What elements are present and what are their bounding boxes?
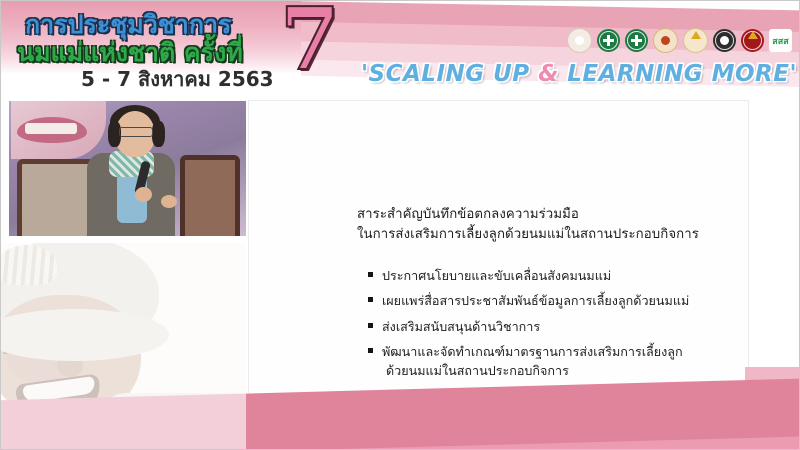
- list-item: เผยแพร่สื่อสารประชาสัมพันธ์ข้อมูลการเลี้…: [368, 292, 763, 311]
- heading-line-1: สาระสำคัญบันทึกข้อตกลงความร่วมมือ: [357, 205, 757, 225]
- department-health-green-logo: [625, 29, 648, 52]
- photo-fade-overlay: [1, 243, 246, 450]
- square-bullet-icon: [368, 297, 373, 302]
- presentation-slide: 7 การประชุมวิชาการ นมแม่แห่งชาติ ครั้งที…: [0, 0, 800, 450]
- bullet-text: เผยแพร่สื่อสารประชาสัมพันธ์ข้อมูลการเลี้…: [382, 293, 689, 308]
- tagline-text-part1: 'SCALING UP: [361, 61, 538, 87]
- square-bullet-icon: [368, 323, 373, 328]
- black-seal-logo: [713, 29, 736, 52]
- smiling-child-background-photo: [1, 243, 246, 450]
- tagline-ampersand: &: [538, 61, 559, 87]
- list-item: ส่งเสริมสนับสนุนด้านวิชาการ: [368, 318, 763, 337]
- bullet-text: พัฒนาและจัดทำเกณฑ์มาตรฐานการส่งเสริมการเ…: [382, 344, 683, 359]
- chair-right: [180, 155, 240, 236]
- slide-header-banner: 7 การประชุมวิชาการ นมแม่แห่งชาติ ครั้งที…: [1, 1, 800, 95]
- heading-line-2: ในการส่งเสริมการเลี้ยงลูกด้วยนมแม่ในสถาน…: [357, 225, 757, 245]
- bullet-text: ประกาศนโยบายและขับเคลื่อนสังคมนมแม่: [382, 268, 611, 283]
- bullet-text: ส่งเสริมสนับสนุนด้านวิชาการ: [382, 319, 540, 334]
- red-crest-logo: [741, 29, 764, 52]
- speaker-hand-right: [161, 195, 177, 208]
- speaker-video-panel[interactable]: [9, 101, 246, 236]
- conference-dates: 5 - 7 สิงหาคม 2563: [81, 63, 274, 95]
- thaihealth-sss-logo: สสส: [769, 29, 792, 52]
- edition-number: 7: [280, 1, 338, 83]
- square-bullet-icon: [368, 272, 373, 277]
- content-heading: สาระสำคัญบันทึกข้อตกลงความร่วมมือ ในการส…: [357, 205, 757, 246]
- ministry-health-green-logo: [597, 29, 620, 52]
- speaker-glasses: [119, 127, 153, 137]
- royal-garuda-crown-logo: [683, 28, 708, 53]
- conference-tagline: 'SCALING UP & LEARNING MORE': [361, 61, 791, 87]
- backdrop-teeth-graphic: [25, 123, 77, 134]
- speaker-hair-right: [152, 121, 165, 147]
- speaker-hand-left: [135, 187, 152, 202]
- tagline-text-part2: LEARNING MORE': [559, 61, 797, 87]
- list-item: พัฒนาและจัดทำเกณฑ์มาตรฐานการส่งเสริมการเ…: [368, 343, 763, 381]
- bullet-text-continued: ด้วยนมแม่ในสถานประกอบกิจการ: [382, 362, 763, 381]
- slide-body: สาระสำคัญบันทึกข้อตกลงความร่วมมือ ในการส…: [1, 95, 800, 450]
- thai-breastfeeding-foundation-logo: [567, 28, 592, 53]
- list-item: ประกาศนโยบายและขับเคลื่อนสังคมนมแม่: [368, 267, 763, 286]
- chair-left: [17, 159, 95, 236]
- royal-emblem-orange-logo: [653, 28, 678, 53]
- square-bullet-icon: [368, 348, 373, 353]
- sponsor-logo-strip: สสส: [567, 28, 792, 53]
